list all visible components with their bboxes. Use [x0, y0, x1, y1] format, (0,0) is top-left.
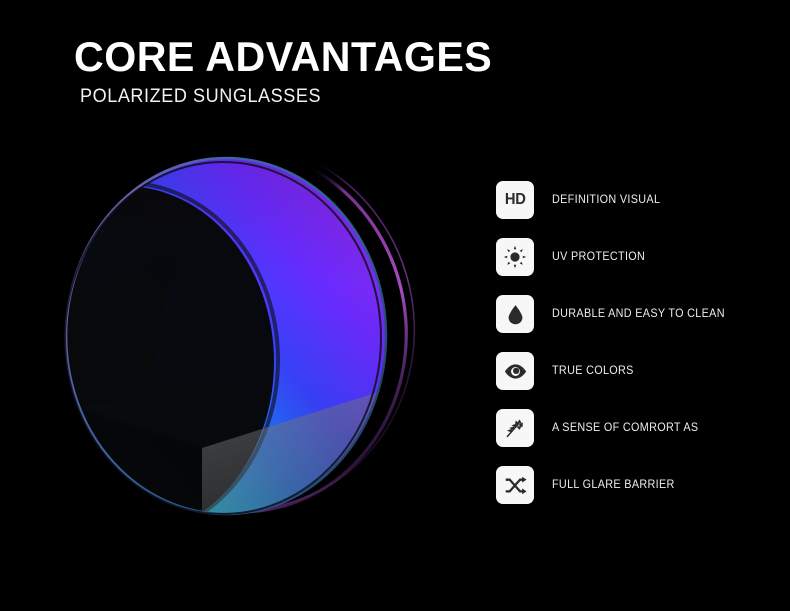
feature-label: UV PROTECTION [552, 251, 645, 263]
feature-label: DEFINITION VISUAL [552, 194, 660, 206]
feature-item-full-glare-barrier: FULL GLARE BARRIER [496, 466, 766, 504]
feather-icon [496, 409, 534, 447]
hd-icon-text: HD [505, 191, 526, 209]
eye-icon [496, 352, 534, 390]
hd-icon: HD [496, 181, 534, 219]
feature-label: TRUE COLORS [552, 365, 634, 377]
lens-illustration [52, 148, 422, 534]
feature-label: DURABLE AND EASY TO CLEAN [552, 308, 725, 320]
feature-item-true-colors: TRUE COLORS [496, 352, 766, 390]
feature-item-definition-visual: HD DEFINITION VISUAL [496, 181, 766, 219]
heading-block: CORE ADVANTAGES POLARIZED SUNGLASSES [74, 36, 494, 108]
feature-list: HD DEFINITION VISUAL [496, 181, 766, 504]
page-subtitle: POLARIZED SUNGLASSES [80, 86, 473, 108]
promo-banner: CORE ADVANTAGES POLARIZED SUNGLASSES [0, 0, 790, 611]
product-lens-image [52, 148, 422, 534]
feature-item-sense-of-comfort: A SENSE OF COMRORT AS [496, 409, 766, 447]
shuffle-icon [496, 466, 534, 504]
sun-icon [496, 238, 534, 276]
droplet-icon [496, 295, 534, 333]
feature-label: FULL GLARE BARRIER [552, 479, 675, 491]
feature-label: A SENSE OF COMRORT AS [552, 422, 698, 434]
feature-item-uv-protection: UV PROTECTION [496, 238, 766, 276]
feature-item-durable-easy-clean: DURABLE AND EASY TO CLEAN [496, 295, 766, 333]
page-title: CORE ADVANTAGES [74, 36, 486, 78]
